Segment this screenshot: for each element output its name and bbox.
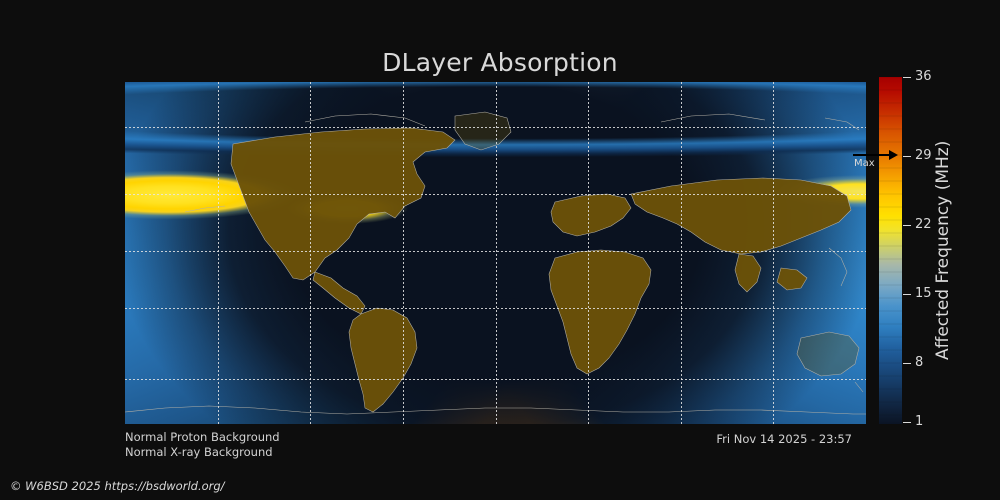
colorbar-gradient [879, 77, 902, 424]
footer-credit: © W6BSD 2025 https://bsdworld.org/ [10, 479, 225, 493]
colorbar-label-1: 1 [915, 414, 923, 429]
colorbar-label-29: 29 [915, 148, 932, 163]
timestamp: Fri Nov 14 2025 - 23:57 [716, 432, 852, 446]
colorbar-tick-15 [903, 294, 911, 295]
world-map[interactable] [125, 82, 866, 424]
colorbar[interactable]: 36 29 22 15 8 1 Max [879, 77, 902, 424]
gridline-lon-45w [403, 82, 404, 424]
proton-background-note: Normal Proton Background [125, 430, 280, 445]
max-marker-label: Max [854, 158, 875, 169]
max-marker: Max [853, 155, 905, 156]
colorbar-label-36: 36 [915, 69, 932, 84]
colorbar-tick-8 [903, 363, 911, 364]
xray-background-note: Normal X-ray Background [125, 445, 280, 460]
colorbar-axis-label: Affected Frequency (MHz) [931, 77, 955, 424]
colorbar-label-22: 22 [915, 217, 932, 232]
gridline-lon-45e [588, 82, 589, 424]
max-arrow-icon [853, 154, 893, 156]
plot-root: DLayer Absorption [0, 0, 1000, 500]
gridline-lon-90w [310, 82, 311, 424]
gridline-lon-135e [773, 82, 774, 424]
gridline-lon-90e [681, 82, 682, 424]
gridline-lon-0 [496, 82, 497, 424]
page-title: DLayer Absorption [0, 48, 1000, 77]
background-notes: Normal Proton Background Normal X-ray Ba… [125, 430, 280, 460]
colorbar-tick-22 [903, 225, 911, 226]
colorbar-tick-29 [903, 156, 911, 157]
colorbar-tick-36 [903, 77, 911, 78]
colorbar-tick-1 [903, 422, 911, 423]
gridline-lon-135w [218, 82, 219, 424]
colorbar-label-15: 15 [915, 286, 932, 301]
colorbar-label-8: 8 [915, 355, 923, 370]
max-arrowhead-icon [889, 150, 898, 160]
